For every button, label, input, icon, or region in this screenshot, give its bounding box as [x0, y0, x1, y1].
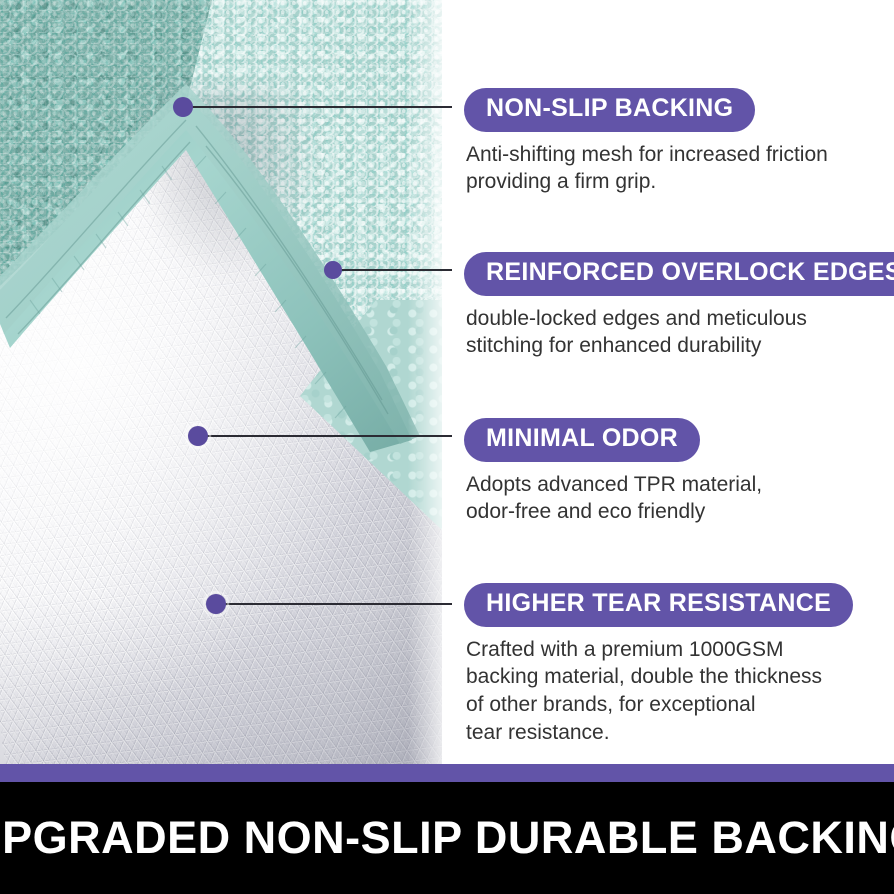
callout-description-reinforced-overlock-edges: double-locked edges and meticulous stitc… — [466, 305, 886, 360]
callout-desc-line: of other brands, for exceptional — [466, 691, 853, 719]
callout-desc-line: providing a firm grip. — [466, 168, 828, 196]
callout-reinforced-overlock-edges: REINFORCED OVERLOCK EDGES double-locked … — [456, 252, 894, 360]
callout-description-non-slip-backing: Anti-shifting mesh for increased frictio… — [466, 141, 828, 196]
callout-desc-line: stitching for enhanced durability — [466, 332, 886, 360]
callout-desc-line: tear resistance. — [466, 719, 853, 747]
overlock-binding-edge — [0, 0, 442, 560]
callout-description-minimal-odor: Adopts advanced TPR material, odor-free … — [466, 471, 762, 526]
callout-title-higher-tear-resistance[interactable]: HIGHER TEAR RESISTANCE — [464, 583, 853, 627]
callout-non-slip-backing: NON-SLIP BACKING Anti-shifting mesh for … — [456, 88, 828, 196]
product-infographic: NON-SLIP BACKING Anti-shifting mesh for … — [0, 0, 894, 894]
callout-desc-line: double-locked edges and meticulous — [466, 305, 886, 333]
callout-desc-line: backing material, double the thickness — [466, 663, 853, 691]
callout-minimal-odor: MINIMAL ODOR Adopts advanced TPR materia… — [456, 418, 762, 526]
callout-desc-line: Crafted with a premium 1000GSM — [466, 636, 853, 664]
callout-desc-line: odor-free and eco friendly — [466, 498, 762, 526]
callout-title-minimal-odor[interactable]: MINIMAL ODOR — [464, 418, 700, 462]
banner-headline: UPGRADED NON-SLIP DURABLE BACKING — [0, 812, 894, 864]
folded-bath-rug-photo — [0, 0, 442, 764]
callout-desc-line: Adopts advanced TPR material, — [466, 471, 762, 499]
callout-higher-tear-resistance: HIGHER TEAR RESISTANCE Crafted with a pr… — [456, 583, 853, 746]
purple-divider-rule — [0, 764, 894, 782]
callout-description-higher-tear-resistance: Crafted with a premium 1000GSM backing m… — [466, 636, 853, 747]
callout-title-reinforced-overlock-edges[interactable]: REINFORCED OVERLOCK EDGES — [464, 252, 894, 296]
bottom-banner: UPGRADED NON-SLIP DURABLE BACKING — [0, 782, 894, 894]
callout-desc-line: Anti-shifting mesh for increased frictio… — [466, 141, 828, 169]
callout-title-non-slip-backing[interactable]: NON-SLIP BACKING — [464, 88, 755, 132]
